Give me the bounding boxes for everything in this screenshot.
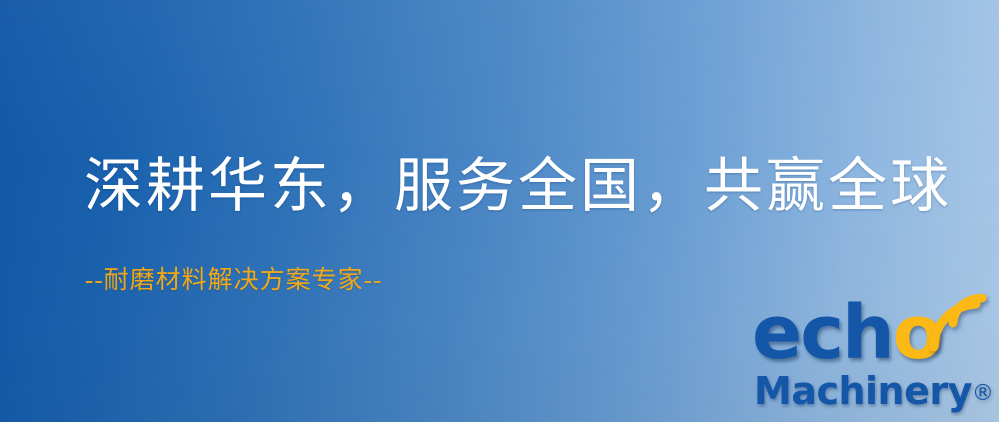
logo-wordmark-primary: ech bbox=[752, 290, 893, 376]
logo-tagline-text: Machinery bbox=[754, 369, 972, 413]
logo-tagline: Machinery® bbox=[754, 372, 994, 410]
banner-headline: 深耕华东，服务全国，共赢全球 bbox=[84, 152, 952, 220]
company-logo: echo Machinery® bbox=[752, 296, 999, 422]
logo-wordmark: echo bbox=[752, 296, 942, 370]
promo-banner: 深耕华东，服务全国，共赢全球 --耐磨材料解决方案专家-- echo Machi… bbox=[0, 0, 999, 422]
banner-subtitle: --耐磨材料解决方案专家-- bbox=[85, 266, 382, 296]
registered-trademark-icon: ® bbox=[972, 381, 994, 406]
signal-waves-icon bbox=[928, 294, 992, 352]
